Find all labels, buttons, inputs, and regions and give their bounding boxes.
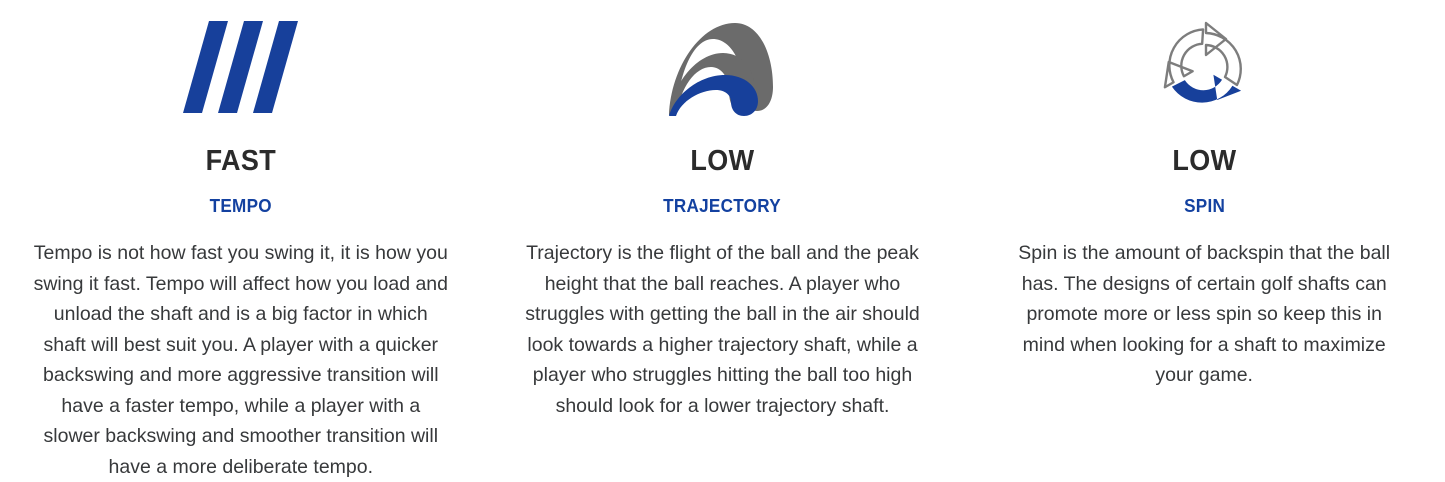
feature-column-tempo: FAST TEMPO Tempo is not how fast you swi… [0,0,482,482]
feature-title: LOW [690,146,754,176]
feature-description: Trajectory is the flight of the ball and… [523,238,923,421]
features-row: FAST TEMPO Tempo is not how fast you swi… [0,0,1445,439]
speed-lines-icon [183,6,299,128]
feature-description: Spin is the amount of backspin that the … [1003,238,1405,391]
feature-title: LOW [1172,146,1236,176]
ball-flight-arcs-icon [663,6,783,128]
feature-column-trajectory: LOW TRAJECTORY Trajectory is the flight … [482,0,964,421]
feature-subtitle: TEMPO [210,196,272,216]
feature-subtitle: SPIN [1184,196,1225,216]
circular-arrows-spin-icon [1152,6,1256,128]
feature-title: FAST [206,146,276,176]
feature-subtitle: TRAJECTORY [664,196,782,216]
feature-description: Tempo is not how fast you swing it, it i… [31,238,451,482]
feature-column-spin: LOW SPIN Spin is the amount of backspin … [963,0,1445,391]
